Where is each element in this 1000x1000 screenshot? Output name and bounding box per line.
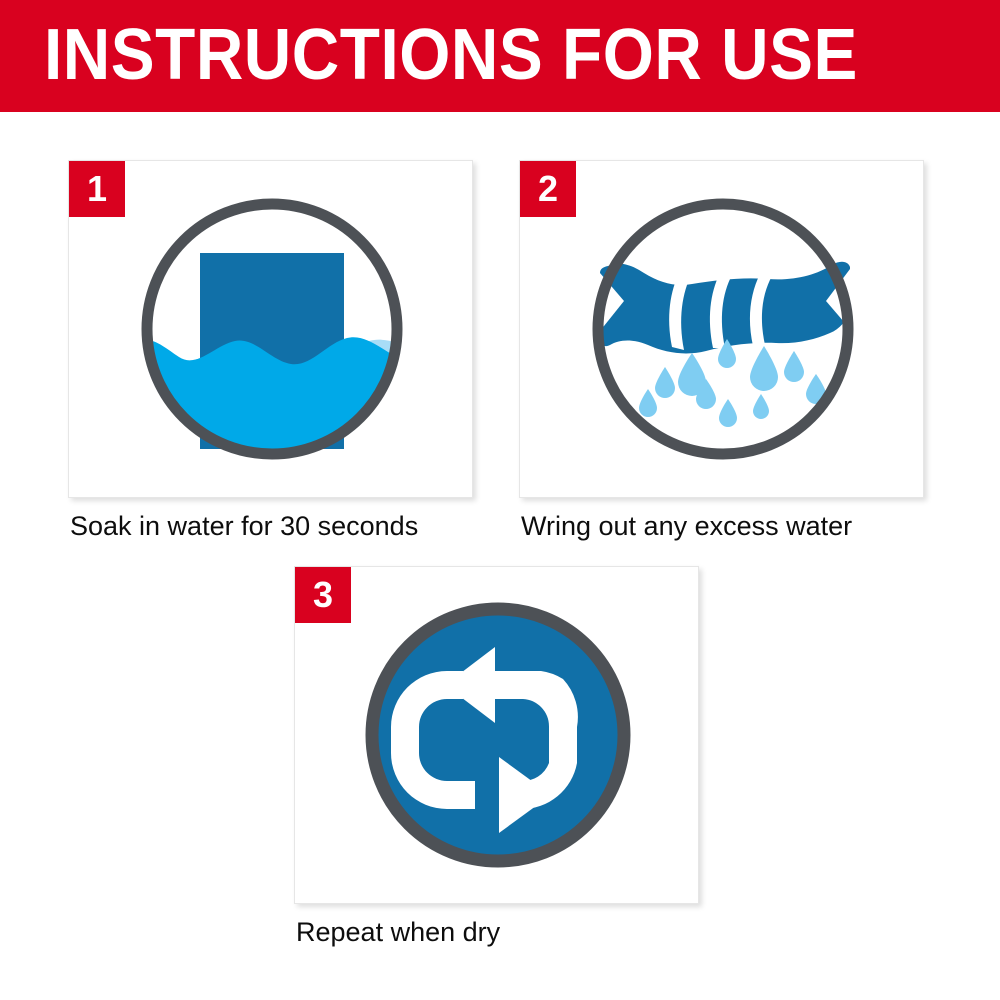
wring-out-water-icon: [520, 161, 923, 497]
page-title: INSTRUCTIONS FOR USE: [44, 25, 812, 87]
page-title-text: INSTRUCTIONS FOR USE: [44, 20, 858, 92]
step-1-caption: Soak in water for 30 seconds: [70, 510, 418, 542]
step-badge-2-number: 2: [520, 161, 576, 217]
soak-in-water-icon: [69, 161, 472, 497]
twisted-cloth: [600, 262, 850, 354]
step-badge-1-number: 1: [69, 161, 125, 217]
instructions-page: INSTRUCTIONS FOR USE: [0, 0, 1000, 1000]
repeat-cycle-icon: [295, 567, 698, 903]
step-3-caption: Repeat when dry: [296, 916, 500, 948]
step-1-card: 1: [68, 160, 473, 498]
step-2-caption: Wring out any excess water: [521, 510, 852, 542]
step-badge-1: 1: [69, 161, 125, 217]
water-droplets: [639, 339, 826, 427]
step-badge-2: 2: [520, 161, 576, 217]
step-3-card: 3: [294, 566, 699, 904]
step-badge-3: 3: [295, 567, 351, 623]
header-banner: INSTRUCTIONS FOR USE: [0, 0, 1000, 112]
step-badge-3-number: 3: [295, 567, 351, 623]
step-2-card: 2: [519, 160, 924, 498]
